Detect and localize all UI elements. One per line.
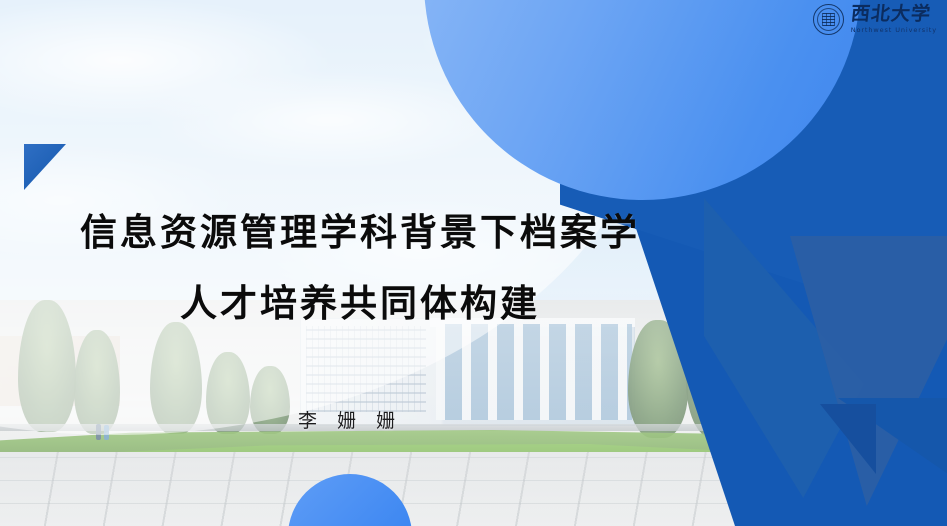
slide-title: 信息资源管理学科背景下档案学 人才培养共同体构建 xyxy=(0,214,720,322)
logo-name-cn: 西北大学 xyxy=(850,5,938,24)
title-line-2: 人才培养共同体构建 xyxy=(0,285,720,322)
top-left-triangle-icon xyxy=(24,144,66,190)
title-slide: 西北大学 Northwest University 信息资源管理学科背景下档案学… xyxy=(0,0,947,526)
author-name: 李 姗 姗 xyxy=(0,406,700,433)
bottom-blue-circle xyxy=(288,474,412,526)
logo-name-en: Northwest University xyxy=(851,27,937,34)
university-logo: 西北大学 Northwest University xyxy=(813,4,937,35)
logo-text-block: 西北大学 Northwest University xyxy=(851,5,937,34)
university-seal-icon xyxy=(813,4,844,35)
title-line-1: 信息资源管理学科背景下档案学 xyxy=(0,214,720,251)
